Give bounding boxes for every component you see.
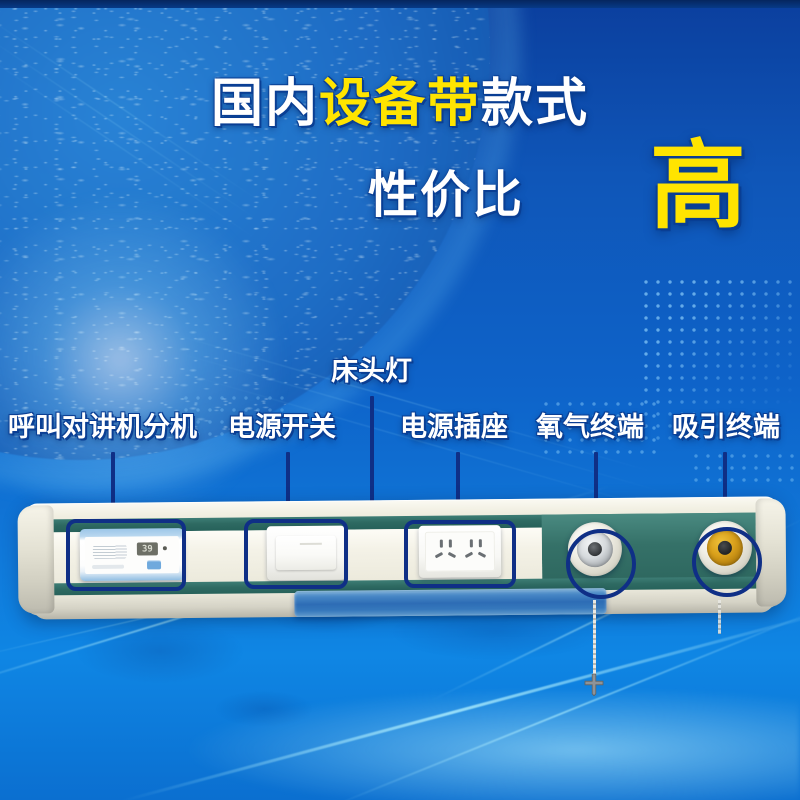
highlight-circle-suction-terminal — [692, 527, 762, 597]
top-bar — [0, 0, 800, 8]
callout-label-suction-terminal: 吸引终端 — [672, 414, 780, 441]
bottom-glow — [0, 690, 800, 800]
headline-line-2: 性价比 — [368, 170, 524, 220]
bedside-lamp-light-strip[interactable] — [294, 588, 606, 617]
oxygen-pull-cord[interactable] — [718, 600, 721, 634]
highlight-box-power-switch — [244, 519, 348, 589]
headline-line-1: 国内设备带款式 — [0, 78, 800, 130]
callout-label-power-outlet: 电源插座 — [400, 414, 508, 441]
highlight-circle-oxygen-terminal — [566, 529, 636, 599]
callout-label-oxygen-terminal: 氧气终端 — [536, 414, 644, 441]
highlight-box-nurse-call-intercom — [66, 519, 186, 591]
headline-part-3: 款式 — [481, 74, 589, 134]
callout-label-power-switch: 电源开关 — [228, 414, 336, 441]
poster-canvas: 国内设备带款式 性价比 高 呼叫对讲机分机 电源开关 床头灯 电源插座 氧气终端… — [0, 0, 800, 800]
headline-part-1: 国内 — [211, 74, 319, 134]
pull-cord-pendant-icon — [583, 674, 605, 696]
suction-pull-cord[interactable] — [593, 600, 596, 680]
callout-label-bedside-lamp: 床头灯 — [331, 358, 412, 385]
highlight-box-power-outlet — [404, 520, 516, 588]
panel-end-cap-left — [17, 505, 54, 613]
headline-emphasis: 高 — [650, 138, 746, 234]
halftone-dots-block-3 — [690, 450, 800, 490]
headline-part-2: 设备带 — [319, 74, 481, 134]
headline-block: 国内设备带款式 — [0, 78, 800, 130]
callout-label-nurse-call-intercom: 呼叫对讲机分机 — [8, 414, 197, 441]
